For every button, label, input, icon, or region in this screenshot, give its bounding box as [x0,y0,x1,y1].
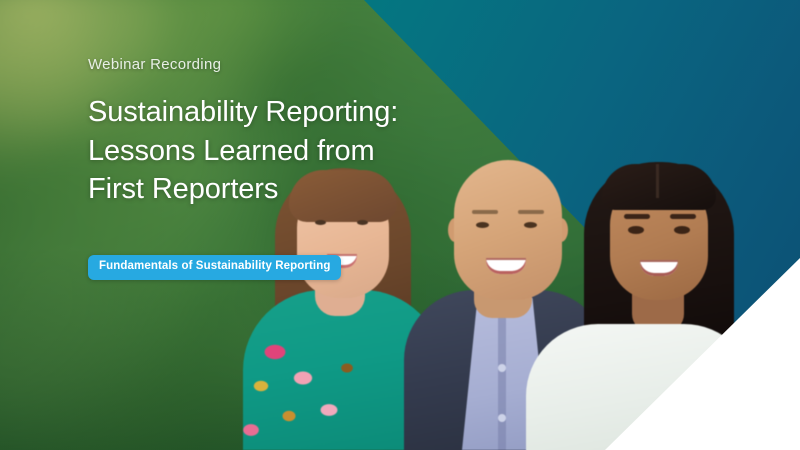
presenter-right-hair-front [602,164,716,210]
presenter-right-brow-right [670,214,696,219]
banner-text-block: Webinar Recording Sustainability Reporti… [88,56,418,209]
presenter-center-brow-left [472,210,498,214]
presenter-center-eye-right [524,222,537,228]
eyebrow-label: Webinar Recording [88,56,418,73]
presenter-right-eye-right [674,226,690,234]
presenter-right-eye-left [628,226,644,234]
presenter-center-shirt-button-upper [498,364,506,372]
presenter-right-hair-part [656,164,659,198]
presenter-left-eye-right [357,220,368,225]
course-badge[interactable]: Fundamentals of Sustainability Reporting [88,255,341,280]
presenter-center-shirt-button-lower [498,414,506,422]
presenter-center-brow-right [518,210,544,214]
headline-line-1: Sustainability Reporting: [88,93,418,132]
webinar-banner: Webinar Recording Sustainability Reporti… [0,0,800,450]
presenter-right-brow-left [624,214,650,219]
headline-line-3: First Reporters [88,170,418,209]
presenter-center-head [454,160,562,300]
headline-line-2: Lessons Learned from [88,132,418,171]
page-title: Sustainability Reporting: Lessons Learne… [88,93,418,209]
presenter-center-shirt-placket [498,316,506,450]
presenter-center-eye-left [476,222,489,228]
presenter-left-eye-left [315,220,326,225]
